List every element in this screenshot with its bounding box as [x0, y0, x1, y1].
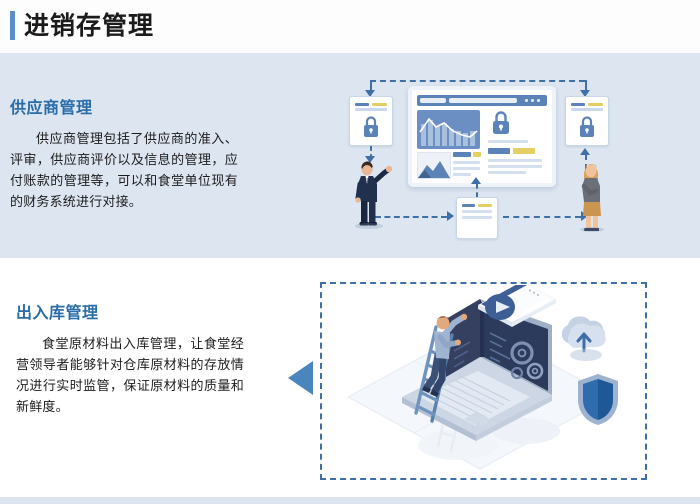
doc-line: [462, 216, 492, 219]
doc-line: [571, 103, 585, 106]
lock-icon: [488, 110, 514, 136]
lock-icon: [566, 114, 608, 142]
browser-title-bar: [417, 95, 547, 106]
data-security-dashboard-illustration: [330, 70, 630, 245]
secure-document-card-right: [565, 96, 609, 146]
left-pointer-triangle: [288, 361, 313, 395]
arrow-right-to-card: [447, 211, 454, 221]
secure-document-card-left: [349, 96, 393, 146]
section-body-inbound-outbound: 食堂原材料出入库管理，让食堂经营领导者能够针对仓库原材料的存放情况进行实时监管，…: [16, 333, 244, 417]
content-line: [453, 161, 480, 164]
doc-line: [588, 103, 603, 106]
content-line: [488, 159, 542, 162]
bar-chart-panel: [417, 110, 480, 149]
content-line: [453, 173, 471, 176]
footer-band: [0, 497, 700, 504]
title-accent-bar: [10, 11, 15, 40]
doc-line: [462, 204, 475, 207]
section-body-supplier: 供应商管理包括了供应商的准入、评审，供应商评价以及信息的管理，应付账款的管理等，…: [10, 128, 238, 212]
businesswoman-standing: [568, 158, 614, 234]
browser-dashboard-window: [408, 86, 556, 187]
section-heading-inbound-outbound: 出入库管理: [16, 299, 99, 323]
dashed-line-top: [370, 80, 585, 82]
content-line: [453, 167, 480, 170]
browser-dot: [537, 99, 540, 102]
security-shield-icon: [578, 374, 618, 425]
businesswoman-figure: [568, 158, 614, 234]
secure-content-panel: [488, 110, 546, 177]
cloud-upload-icon: [562, 316, 606, 361]
content-line: [453, 152, 471, 157]
page-header: 进销存管理: [0, 0, 700, 53]
content-line: [513, 148, 535, 154]
browser-dot: [525, 99, 528, 102]
arrow-up-to-browser: [471, 177, 481, 184]
trend-line: [417, 110, 480, 149]
content-line: [488, 171, 526, 174]
arrow-up-to-right-card: [580, 148, 590, 155]
document-card-bottom: [456, 197, 498, 239]
doc-line: [478, 204, 492, 207]
isometric-scene: [330, 285, 630, 475]
content-line: [488, 140, 528, 143]
content-line: [488, 165, 542, 168]
section-heading-supplier: 供应商管理: [10, 94, 93, 118]
lock-icon: [350, 114, 392, 142]
slide-page: 进销存管理 供应商管理 供应商管理包括了供应商的准入、评审，供应商评价以及信息的…: [0, 0, 700, 504]
doc-line: [462, 210, 492, 213]
thumbnail-panel: [417, 152, 451, 179]
content-line: [488, 148, 510, 154]
browser-address-pill: [420, 98, 446, 103]
doc-line: [355, 103, 369, 106]
content-line: [473, 152, 481, 157]
figure-shadow: [580, 227, 604, 232]
page-title: 进销存管理: [24, 10, 154, 42]
businessman-pointing: [348, 158, 398, 230]
figure-shadow: [355, 223, 383, 229]
play-badge-icon: [485, 294, 515, 320]
businessman-figure: [348, 158, 398, 230]
mountain-image-icon: [418, 153, 450, 178]
doc-line: [355, 108, 387, 111]
doc-line: [571, 108, 603, 111]
doc-line: [372, 103, 387, 106]
isometric-laptop-maintenance-illustration: [330, 285, 630, 475]
dashed-line-browser-up: [476, 183, 478, 198]
browser-dot: [531, 99, 534, 102]
browser-address-pill: [449, 98, 517, 103]
